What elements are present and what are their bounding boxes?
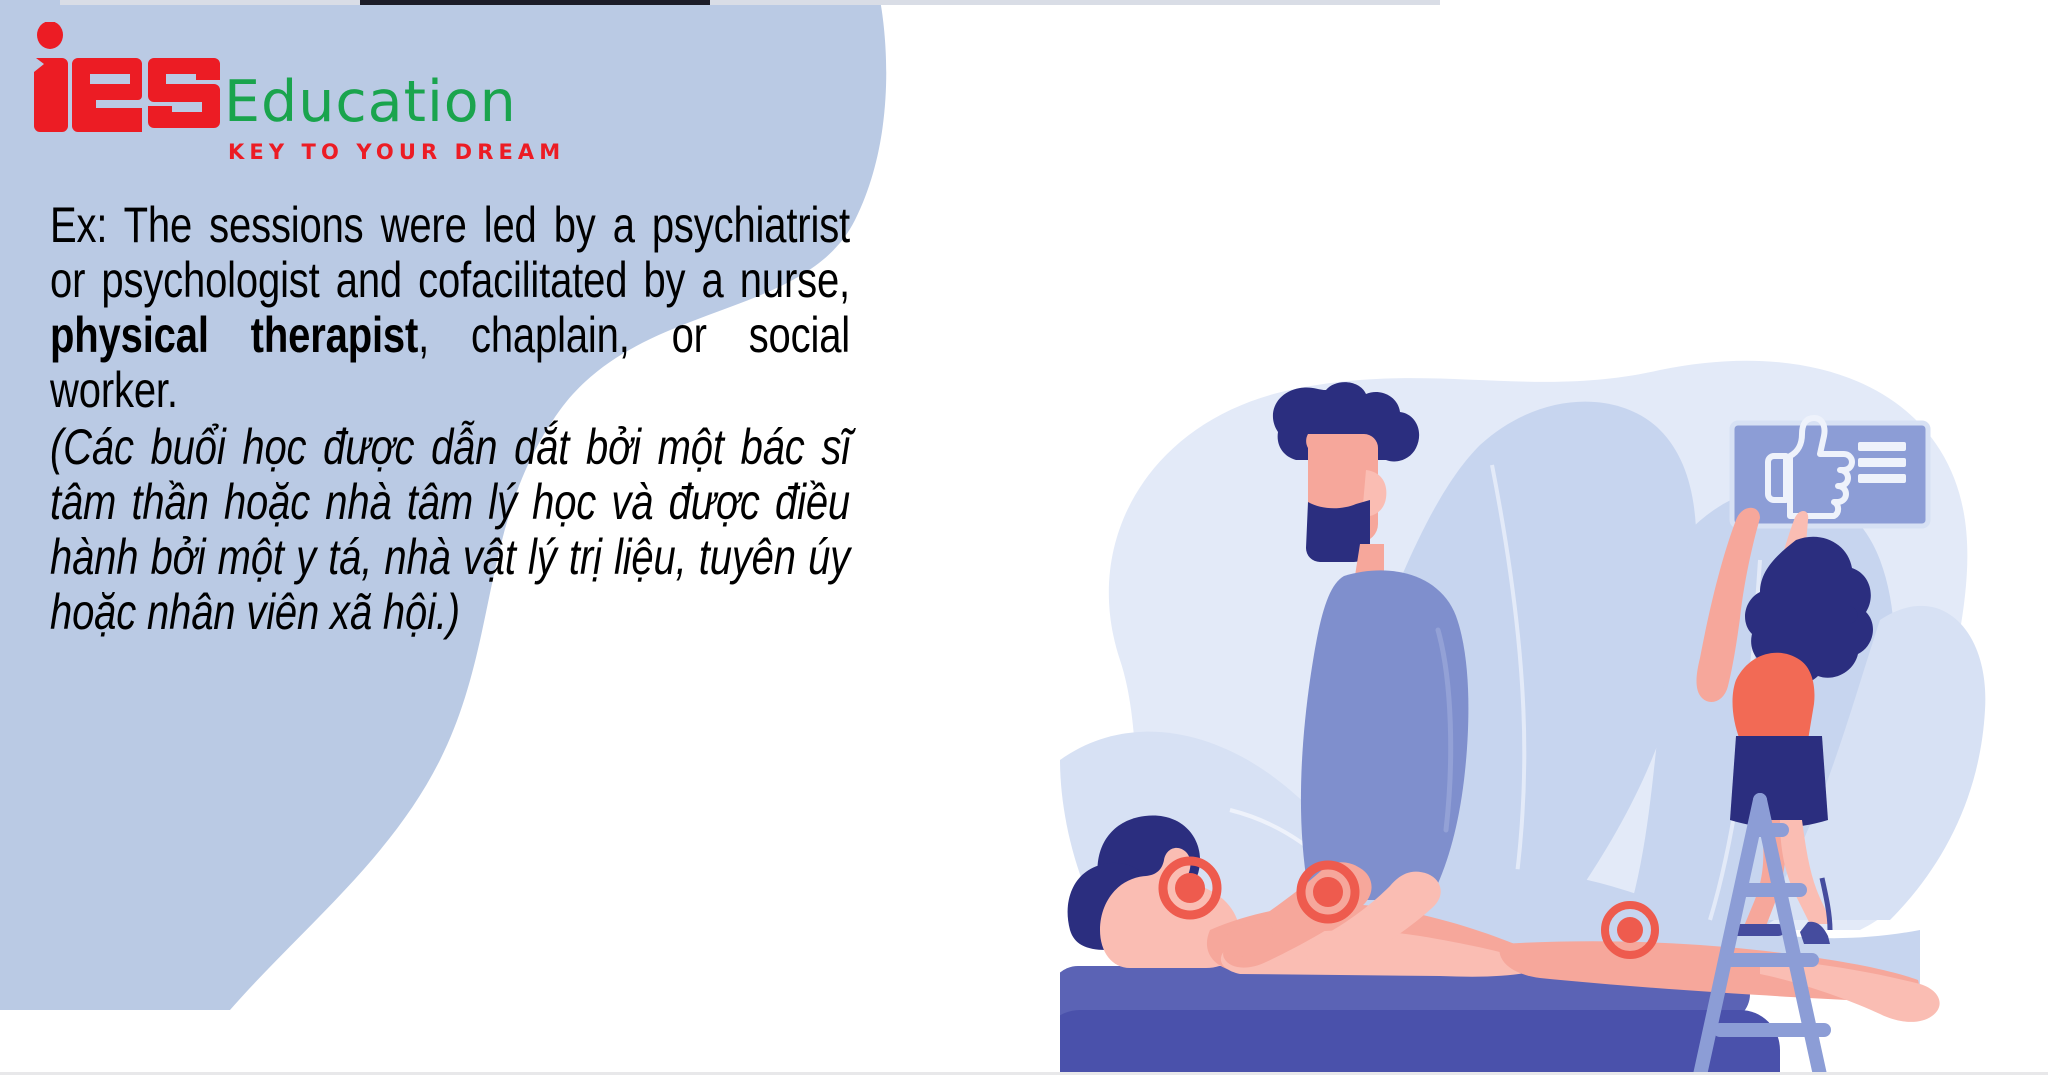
- logo-tagline: KEY TO YOUR DREAM: [228, 140, 565, 164]
- english-prefix: Ex: The sessions were led by a psychiatr…: [50, 197, 850, 308]
- scan-edge-artifact: [60, 0, 1440, 5]
- paragraph-vietnamese: (Các buổi học được dẫn dắt bởi một bác s…: [50, 420, 850, 640]
- logo-wordmark: Education: [224, 74, 517, 131]
- scan-edge-artifact-dark: [360, 0, 710, 5]
- paragraph-english: Ex: The sessions were led by a psychiatr…: [50, 198, 850, 418]
- slide-canvas: Education KEY TO YOUR DREAM Ex: The sess…: [0, 0, 2048, 1075]
- brand-logo: Education KEY TO YOUR DREAM: [28, 22, 668, 162]
- ies-logomark-icon: [28, 22, 228, 132]
- english-bold-term: physical therapist: [50, 307, 418, 363]
- physical-therapy-illustration: [1060, 330, 2048, 1075]
- body-copy: Ex: The sessions were led by a psychiatr…: [50, 198, 850, 640]
- thumbs-up-card: [1732, 418, 1928, 526]
